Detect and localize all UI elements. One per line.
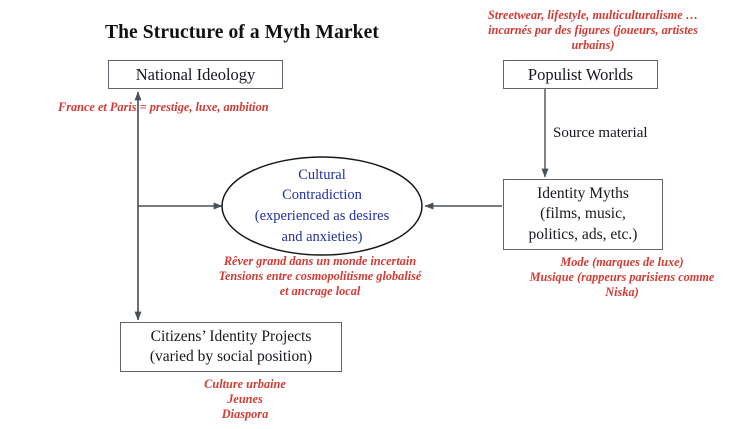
node-citizens-identity-projects[interactable]: Citizens’ Identity Projects (varied by s… [120,322,342,372]
annotation-national-ideology: France et Paris = prestige, luxe, ambiti… [58,100,269,115]
node-national-ideology-line-1: National Ideology [136,64,256,85]
annotation-citizens-identity-projects-line-3: Diaspora [135,407,355,422]
node-citizens-identity-projects-line-1: Citizens’ Identity Projects [151,327,312,347]
annotation-cultural-contradiction: Rêver grand dans un monde incertain Tens… [185,254,455,299]
annotation-populist-worlds-line-1: Streetwear, lifestyle, multiculturalisme… [438,8,748,23]
edge-label-source-material: Source material [553,125,648,142]
annotation-identity-myths-line-2: Musique (rappeurs parisiens comme [490,270,754,285]
annotation-citizens-identity-projects-line-2: Jeunes [135,392,355,407]
node-cultural-contradiction-line-2: Contradiction [230,185,415,206]
annotation-identity-myths-line-1: Mode (marques de luxe) [490,255,754,270]
annotation-identity-myths-line-3: Niska) [490,285,754,300]
node-citizens-identity-projects-line-2: (varied by social position) [150,347,312,367]
annotation-identity-myths: Mode (marques de luxe) Musique (rappeurs… [490,255,754,300]
annotation-citizens-identity-projects: Culture urbaine Jeunes Diaspora [135,377,355,422]
page-title: The Structure of a Myth Market [105,22,445,44]
annotation-citizens-identity-projects-line-1: Culture urbaine [135,377,355,392]
node-identity-myths-line-1: Identity Myths [537,184,629,204]
annotation-populist-worlds: Streetwear, lifestyle, multiculturalisme… [438,8,748,53]
annotation-cultural-contradiction-line-2: Tensions entre cosmopolitisme globalisé [185,269,455,284]
annotation-cultural-contradiction-line-3: et ancrage local [185,284,455,299]
annotation-populist-worlds-line-3: urbains) [438,38,748,53]
node-populist-worlds[interactable]: Populist Worlds [503,60,658,89]
node-national-ideology[interactable]: National Ideology [108,60,283,89]
node-cultural-contradiction-line-1: Cultural [230,165,415,186]
myth-market-diagram: The Structure of a Myth Market National … [0,0,754,429]
annotation-national-ideology-line-1: France et Paris = prestige, luxe, ambiti… [58,100,269,115]
node-cultural-contradiction-text: Cultural Contradiction (experienced as d… [230,165,415,247]
node-identity-myths[interactable]: Identity Myths (films, music, politics, … [503,179,663,250]
annotation-cultural-contradiction-line-1: Rêver grand dans un monde incertain [185,254,455,269]
node-cultural-contradiction-line-3: (experienced as desires [230,206,415,227]
node-cultural-contradiction-line-4: and anxieties) [230,227,415,248]
node-cultural-contradiction[interactable]: Cultural Contradiction (experienced as d… [222,157,422,255]
node-populist-worlds-line-1: Populist Worlds [528,64,633,85]
node-identity-myths-line-2: (films, music, [540,204,626,224]
annotation-populist-worlds-line-2: incarnés par des figures (joueurs, artis… [438,23,748,38]
node-identity-myths-line-3: politics, ads, etc.) [529,225,638,245]
